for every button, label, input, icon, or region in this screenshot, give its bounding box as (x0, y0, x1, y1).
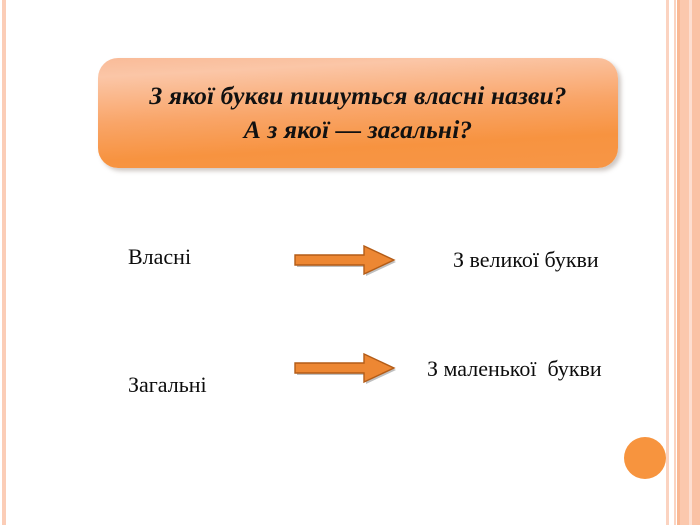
slide-title: З якої букви пишуться власні назви? А з … (149, 79, 566, 146)
orange-circle-decoration (624, 437, 666, 479)
right-arrow-icon (293, 244, 397, 276)
title-banner: З якої букви пишуться власні назви? А з … (98, 58, 618, 168)
slide-canvas: З якої букви пишуться власні назви? А з … (0, 0, 700, 525)
rule-row-common-nouns: Загальні З маленької букви (0, 348, 700, 408)
rule-row-proper-nouns: Власні З великої букви (0, 232, 700, 292)
right-arrow-icon (293, 352, 397, 384)
term-label-common: Загальні (128, 372, 207, 398)
result-label-proper: З великої букви (453, 247, 599, 273)
result-label-common: З маленької букви (427, 356, 602, 382)
term-label-proper: Власні (128, 244, 191, 270)
